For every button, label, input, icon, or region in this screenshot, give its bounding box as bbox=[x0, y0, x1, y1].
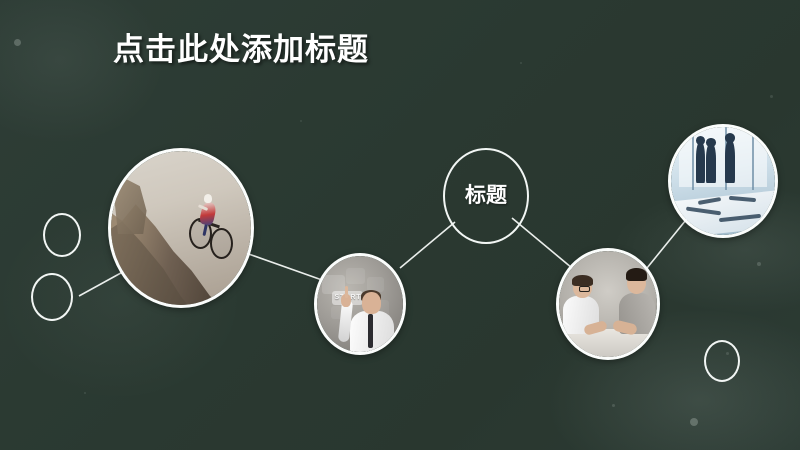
photo-circle-armwrestle[interactable] bbox=[556, 248, 660, 360]
wrestler-right bbox=[608, 268, 655, 334]
bullet-circle-2[interactable] bbox=[31, 273, 73, 321]
armwrestle-image bbox=[559, 251, 657, 357]
cyclist-figure bbox=[188, 191, 236, 259]
office-image bbox=[671, 127, 775, 235]
photo-circle-office[interactable] bbox=[668, 124, 778, 238]
slide-canvas: 点击此处添加标题 bbox=[0, 0, 800, 450]
bullet-circle-1[interactable] bbox=[43, 213, 81, 257]
center-label-circle[interactable]: 标题 bbox=[443, 148, 529, 244]
cyclist-image bbox=[111, 151, 251, 305]
bullet-circle-3[interactable] bbox=[704, 340, 740, 382]
connector-start-center bbox=[400, 222, 455, 268]
connector-cyclist-start bbox=[243, 252, 322, 280]
wrestler-left bbox=[563, 272, 610, 333]
businessman-image: START bbox=[317, 256, 403, 352]
photo-circle-cyclist[interactable] bbox=[108, 148, 254, 308]
photo-circle-start[interactable]: START bbox=[314, 253, 406, 355]
center-label-text: 标题 bbox=[465, 184, 507, 208]
page-title: 点击此处添加标题 bbox=[113, 24, 369, 69]
